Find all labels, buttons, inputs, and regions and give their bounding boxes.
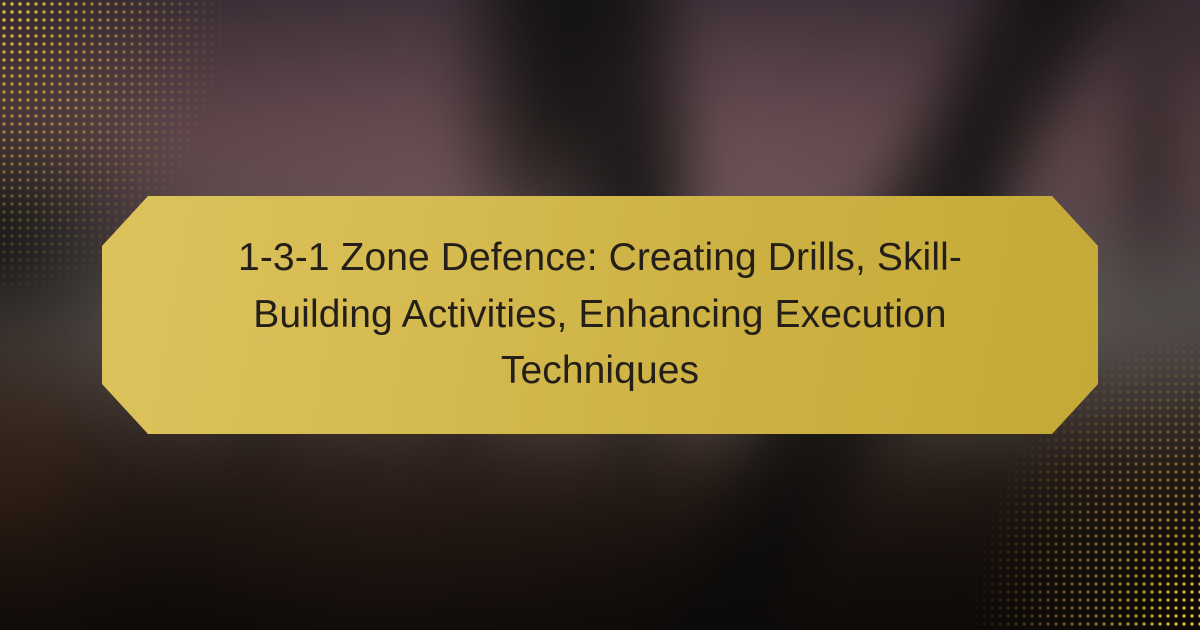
og-banner-card: 1-3-1 Zone Defence: Creating Drills, Ski… <box>0 0 1200 630</box>
page-title: 1-3-1 Zone Defence: Creating Drills, Ski… <box>220 230 980 401</box>
title-plate: 1-3-1 Zone Defence: Creating Drills, Ski… <box>102 196 1098 434</box>
